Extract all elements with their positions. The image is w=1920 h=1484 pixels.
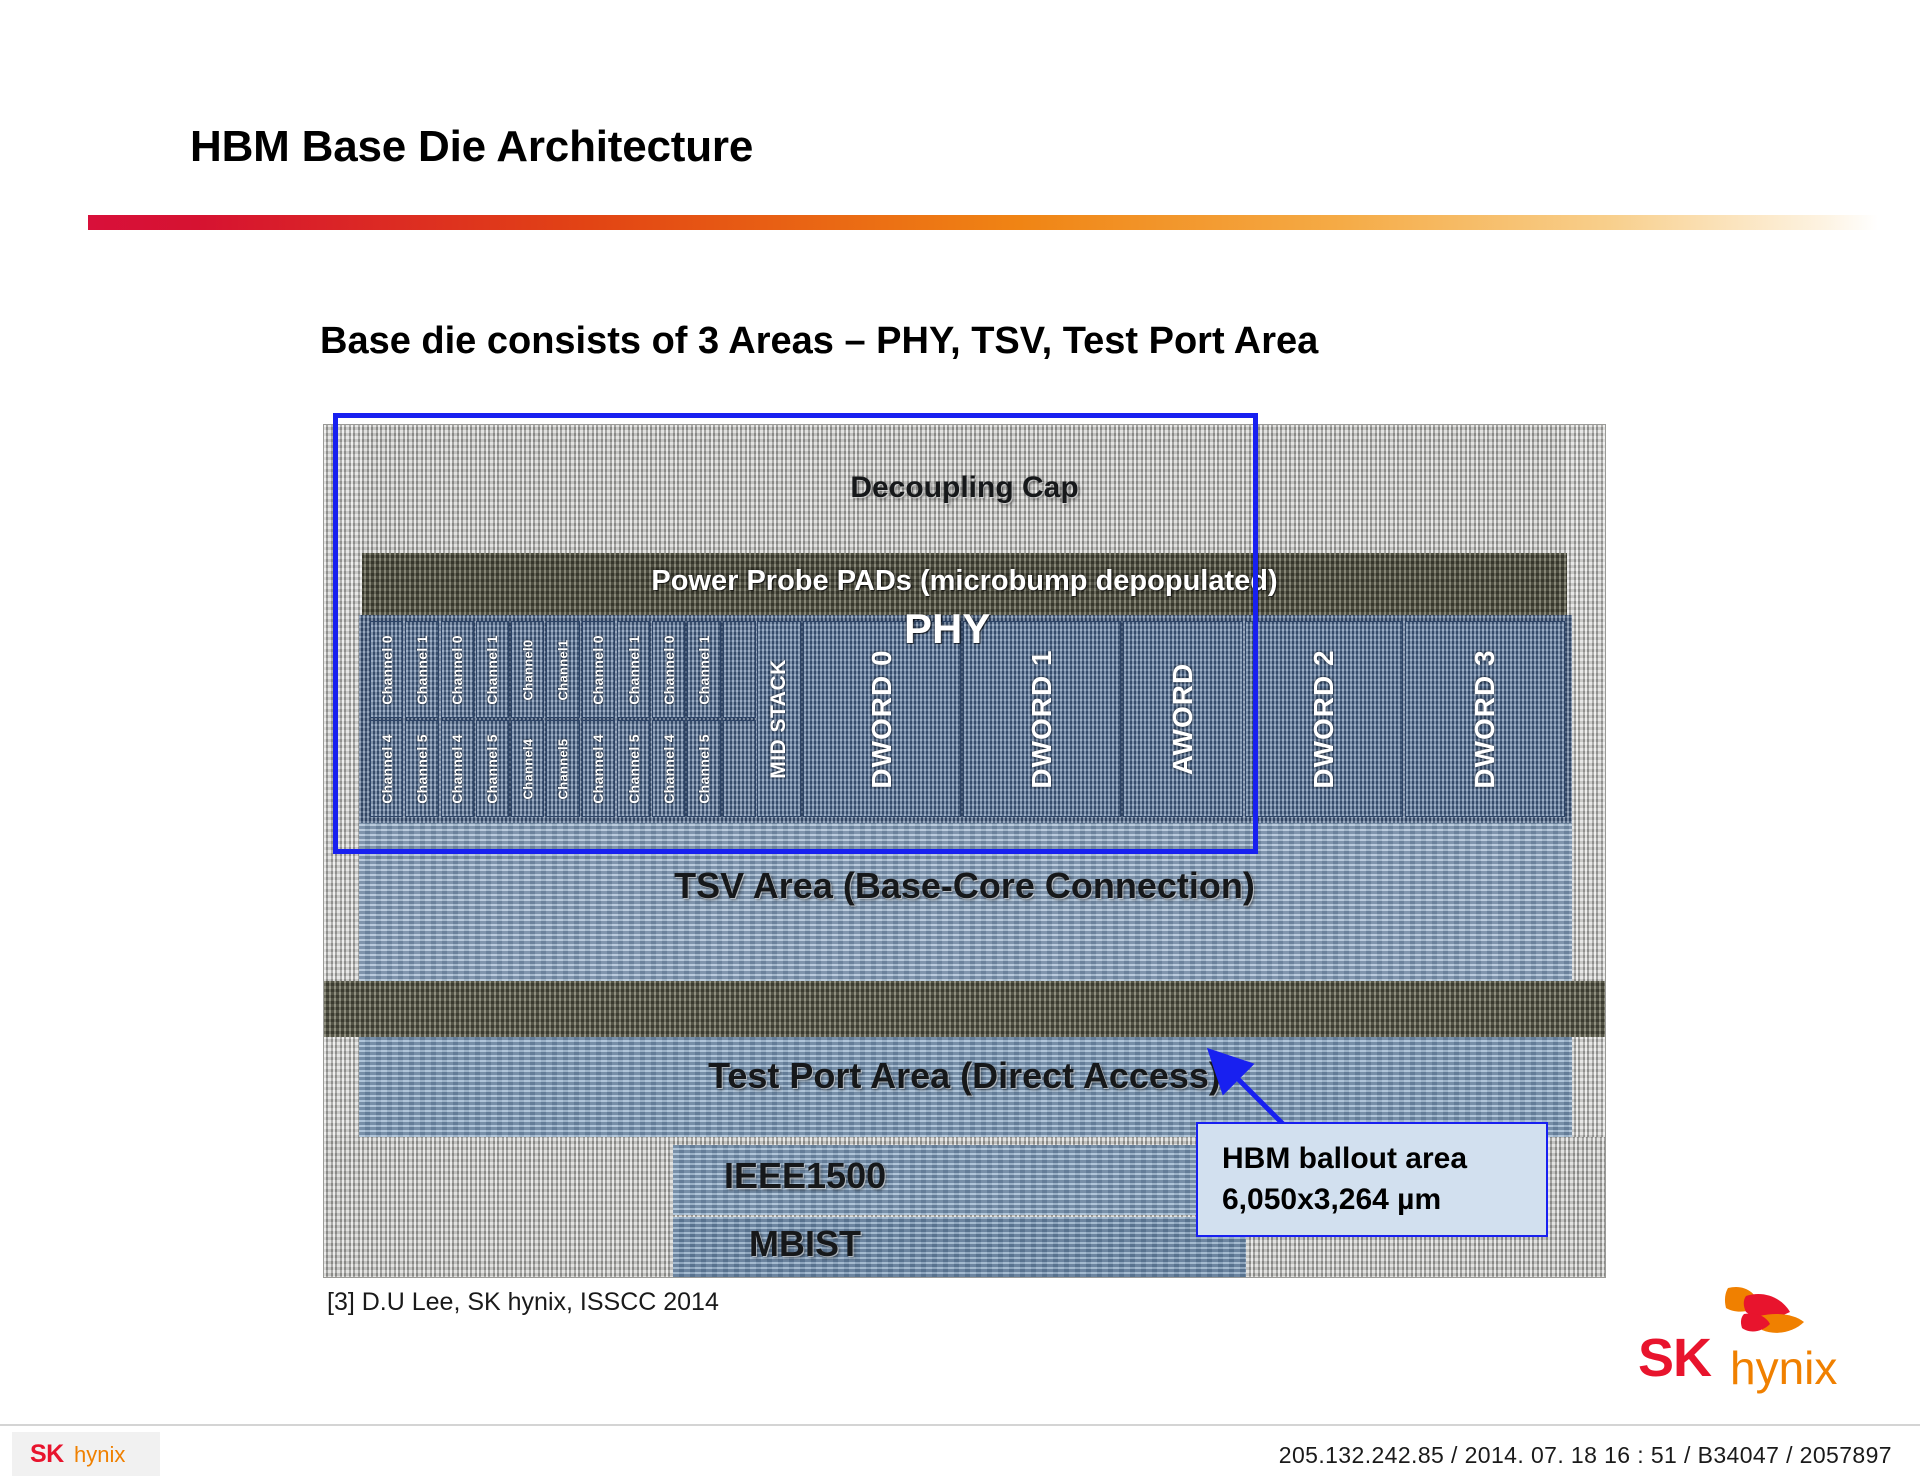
- ieee1500-label: IEEE1500: [724, 1155, 886, 1197]
- channel-label: Channel 0: [590, 635, 606, 705]
- channel-label: Channel 0: [661, 635, 677, 705]
- page-title: HBM Base Die Architecture: [190, 122, 753, 172]
- dword2-label: DWORD 2: [1308, 649, 1340, 788]
- source-citation: [3] D.U Lee, SK hynix, ISSCC 2014: [327, 1288, 719, 1317]
- channel-cell: Channel 5: [405, 720, 438, 817]
- channel-label: Channel0: [520, 639, 535, 700]
- channel-label: Channel 5: [696, 734, 712, 804]
- channel-spacer-cell: [723, 720, 756, 817]
- channel-cell: Channel 0: [441, 621, 474, 718]
- channel-cell: Channel5: [546, 720, 579, 817]
- channel-cell: Channel 5: [476, 720, 509, 817]
- decoupling-cap-label: Decoupling Cap: [324, 471, 1605, 505]
- channel-cell: Channel 5: [687, 720, 720, 817]
- channel-label: Channel4: [520, 738, 535, 799]
- aword-label: AWORD: [1167, 663, 1199, 775]
- channel-label: Channel 5: [414, 734, 430, 804]
- sk-hynix-logo: SK hynix: [1638, 1286, 1858, 1401]
- mid-stack-label: MID STACK: [767, 659, 791, 779]
- channel-grid: Channel 0 Channel 1 Channel 0 Channel 1 …: [370, 621, 756, 817]
- channel-label: Channel 4: [379, 734, 395, 804]
- footer-metadata: 205.132.242.85 / 2014. 07. 18 16 : 51 / …: [1279, 1442, 1892, 1469]
- dword0-label: DWORD 0: [866, 649, 898, 788]
- footer-divider: [0, 1424, 1920, 1426]
- cell-texture: [724, 622, 755, 717]
- channel-spacer-cell: [723, 621, 756, 718]
- channel-label: Channel 1: [484, 635, 500, 705]
- footer-sk-hynix-logo: SK hynix: [12, 1432, 160, 1476]
- mbist-label: MBIST: [749, 1223, 861, 1265]
- dword3-label: DWORD 3: [1469, 649, 1501, 788]
- channel-label: Channel 4: [449, 734, 465, 804]
- hbm-ballout-callout: HBM ballout area 6,050x3,264 µm: [1196, 1122, 1548, 1237]
- footer-logo-hynix-text: hynix: [74, 1442, 125, 1468]
- callout-line-1: HBM ballout area: [1222, 1138, 1546, 1179]
- mid-stack-block: MID STACK: [757, 621, 801, 817]
- dword3-block: DWORD 3: [1405, 621, 1565, 817]
- channel-cell: Channel0: [511, 621, 544, 718]
- channel-cell: Channel1: [546, 621, 579, 718]
- channel-cell: Channel 4: [582, 720, 615, 817]
- channel-cell: Channel 1: [617, 621, 650, 718]
- channel-label: Channel 1: [626, 635, 642, 705]
- callout-line-2: 6,050x3,264 µm: [1222, 1179, 1546, 1220]
- channel-cell: Channel 0: [652, 621, 685, 718]
- logo-hynix-text: hynix: [1730, 1341, 1837, 1395]
- cell-texture: [724, 721, 755, 816]
- channel-label: Channel 4: [661, 734, 677, 804]
- power-probe-pads-label: Power Probe PADs (microbump depopulated): [324, 565, 1605, 598]
- channel-label: Channel 1: [696, 635, 712, 705]
- title-divider-bar: [88, 215, 1878, 230]
- channel-label: Channel 5: [626, 734, 642, 804]
- channel-cell: Channel 0: [582, 621, 615, 718]
- channel-cell: Channel 1: [405, 621, 438, 718]
- die-mid-dark-band: [324, 981, 1606, 1037]
- slide-subtitle: Base die consists of 3 Areas – PHY, TSV,…: [320, 320, 1318, 363]
- channel-cell: Channel 1: [687, 621, 720, 718]
- phy-label: PHY: [904, 605, 990, 653]
- tsv-area-label: TSV Area (Base-Core Connection): [324, 865, 1605, 907]
- logo-sk-text: SK: [1638, 1327, 1711, 1389]
- channel-label: Channel5: [555, 738, 570, 799]
- channel-label: Channel 0: [379, 635, 395, 705]
- channel-label: Channel 1: [414, 635, 430, 705]
- channel-cell: Channel 0: [370, 621, 403, 718]
- channel-cell: Channel 1: [476, 621, 509, 718]
- mid-band-texture: [324, 981, 1606, 1037]
- aword-block: AWORD: [1123, 621, 1243, 817]
- test-port-area-label: Test Port Area (Direct Access): [324, 1055, 1605, 1097]
- channel-label: Channel 4: [590, 734, 606, 804]
- channel-cell: Channel 5: [617, 720, 650, 817]
- channel-label: Channel1: [555, 639, 570, 700]
- dword1-label: DWORD 1: [1026, 649, 1058, 788]
- channel-cell: Channel4: [511, 720, 544, 817]
- dword2-block: DWORD 2: [1245, 621, 1403, 817]
- channel-cell: Channel 4: [441, 720, 474, 817]
- channel-cell: Channel 4: [370, 720, 403, 817]
- channel-cell: Channel 4: [652, 720, 685, 817]
- channel-label: Channel 0: [449, 635, 465, 705]
- channel-label: Channel 5: [484, 734, 500, 804]
- slide-canvas: HBM Base Die Architecture Base die consi…: [0, 0, 1920, 1484]
- footer-logo-sk-text: SK: [30, 1440, 64, 1469]
